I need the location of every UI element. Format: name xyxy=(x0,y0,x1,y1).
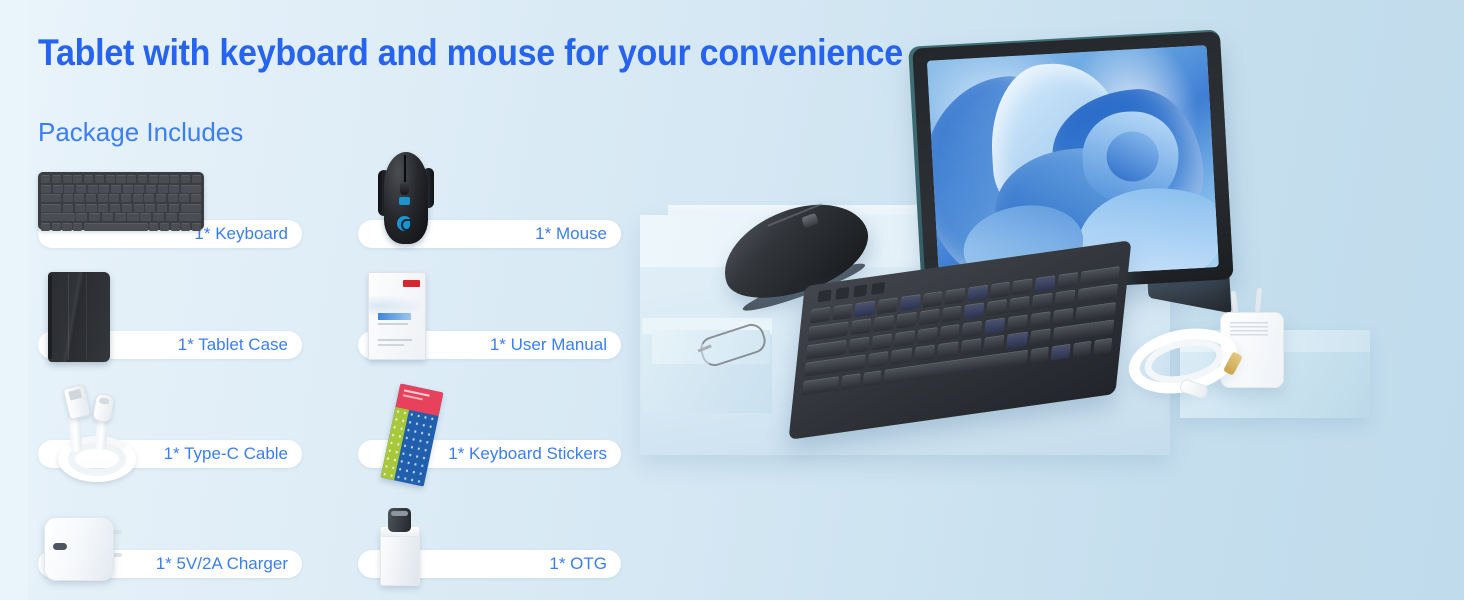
section-heading: Package Includes xyxy=(38,117,243,148)
user-manual-icon xyxy=(368,272,426,360)
package-item-label: 1* OTG xyxy=(549,554,607,574)
left-edge-band xyxy=(0,0,28,600)
keyboard-icon xyxy=(38,172,204,230)
package-item-label: 1* Keyboard xyxy=(194,224,288,244)
package-item-label: 1* Keyboard Stickers xyxy=(448,444,607,464)
tablet-screen xyxy=(927,45,1219,282)
wallpaper xyxy=(927,45,1219,282)
keyboard-stickers-icon xyxy=(381,383,444,486)
charger-prong xyxy=(1231,291,1239,313)
package-item-label: 1* Tablet Case xyxy=(178,335,288,355)
package-item-label: 1* Mouse xyxy=(535,224,607,244)
package-item-label: 1* Type-C Cable xyxy=(164,444,288,464)
product-scene xyxy=(620,0,1464,600)
page-title: Tablet with keyboard and mouse for your … xyxy=(38,30,903,76)
tablet-case-icon xyxy=(48,272,110,362)
product-infographic: Tablet with keyboard and mouse for your … xyxy=(0,0,1464,600)
charger-icon xyxy=(44,517,122,579)
package-item-label: 1* User Manual xyxy=(490,335,607,355)
package-item-label: 1* 5V/2A Charger xyxy=(156,554,288,574)
gaming-mouse-icon xyxy=(378,152,434,244)
usb-c-cable-icon xyxy=(46,386,152,464)
otg-adapter-icon xyxy=(372,508,424,584)
charger-prong xyxy=(1255,288,1262,312)
